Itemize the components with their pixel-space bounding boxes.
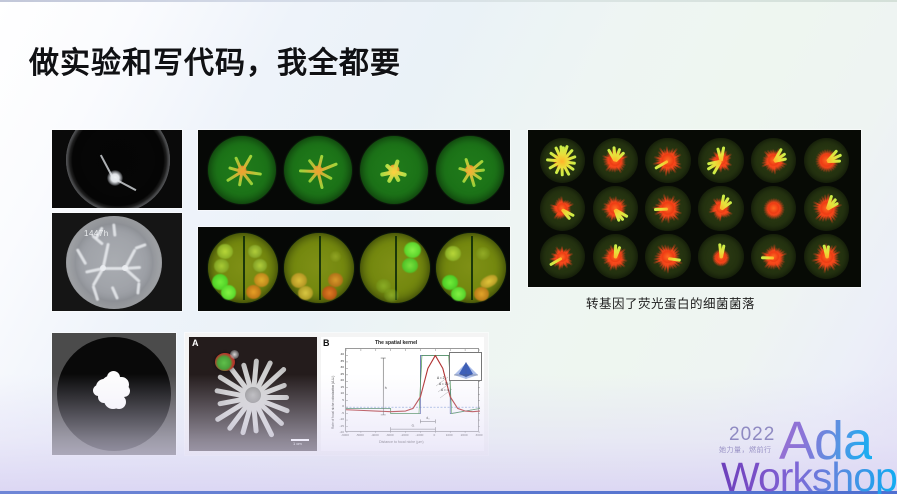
chart-xtick-label: -2000 bbox=[401, 433, 409, 437]
svg-text:h: h bbox=[385, 386, 387, 390]
chart-ytick-label: 5 bbox=[334, 398, 344, 402]
red-radial-colony bbox=[698, 234, 743, 279]
red-petri-dish bbox=[540, 186, 585, 231]
chart-xtick-label: -5000 bbox=[356, 433, 364, 437]
scientific-figure-panel: A 1 cm B The spatial kernel hd₀d₁ Rate o… bbox=[185, 333, 488, 455]
chart-xtick-label: 2000 bbox=[461, 433, 468, 437]
series-annotation-ainf: A = ∞ bbox=[441, 388, 449, 392]
slide-canvas: 做实验和写代码，我全都要 1447h bbox=[0, 0, 897, 494]
chart-ytick-label: -5 bbox=[334, 411, 344, 415]
green-petri-dish-spots bbox=[360, 233, 430, 303]
colony-spot bbox=[253, 259, 267, 272]
series-annotation-a2: A = 2 bbox=[437, 376, 444, 380]
colony-spot bbox=[476, 247, 490, 260]
logo-event: Workshop bbox=[721, 454, 897, 494]
grayscale-petri-dish-dark-panel bbox=[52, 130, 182, 208]
chart-xtick-label: -1000 bbox=[415, 433, 423, 437]
red-petri-dish bbox=[540, 234, 585, 279]
chart-ytick-label: -15 bbox=[334, 424, 344, 428]
red-radial-colony bbox=[751, 234, 796, 279]
colony-spot bbox=[221, 285, 236, 300]
chart-xlabel: Distance to focal niche (μm) bbox=[379, 440, 424, 444]
red-radial-colony bbox=[645, 186, 690, 231]
red-petri-dish bbox=[593, 186, 638, 231]
red-petri-dish bbox=[698, 234, 743, 279]
chart-ytick-label: 0 bbox=[334, 404, 344, 408]
chart-title: The spatial kernel bbox=[375, 340, 417, 346]
chart-xtick-label: 1000 bbox=[446, 433, 453, 437]
chart-xtick-label: -3000 bbox=[386, 433, 394, 437]
colony-spot bbox=[298, 286, 313, 300]
inset-surface-svg bbox=[450, 353, 482, 381]
red-dish-grid bbox=[528, 130, 861, 287]
red-petri-dish bbox=[645, 138, 690, 183]
colony-ray bbox=[241, 154, 253, 172]
red-petri-dish bbox=[698, 186, 743, 231]
red-radial-colony bbox=[698, 186, 743, 231]
red-radial-colony bbox=[645, 138, 690, 183]
radial-colony bbox=[208, 136, 276, 204]
red-radial-colony bbox=[804, 186, 849, 231]
red-radial-colony bbox=[593, 138, 638, 183]
panel-b-chart: B The spatial kernel hd₀d₁ Rate of focal… bbox=[321, 337, 484, 451]
grayscale-petri-dish-branching-panel: 1447h bbox=[52, 213, 182, 311]
colony-spot bbox=[404, 242, 421, 258]
red-radial-colony bbox=[804, 138, 849, 183]
red-petri-dish bbox=[751, 186, 796, 231]
colony-branch bbox=[103, 267, 125, 270]
radial-colony bbox=[360, 136, 428, 204]
scale-bar-label: 1 cm bbox=[293, 441, 302, 446]
radial-colony bbox=[284, 136, 352, 204]
chart-ytick-label: 15 bbox=[334, 385, 344, 389]
colony-spot bbox=[214, 259, 229, 273]
mask-blob bbox=[93, 385, 104, 396]
chart-ytick-label: -10 bbox=[334, 417, 344, 421]
red-petri-dish bbox=[751, 138, 796, 183]
chart-xtick-label: -4000 bbox=[371, 433, 379, 437]
red-radial-colony bbox=[593, 186, 638, 231]
colony-spot bbox=[384, 289, 399, 302]
chart-ytick-label: -20 bbox=[334, 430, 344, 434]
colony-spot bbox=[402, 258, 418, 273]
panel-a-core bbox=[245, 387, 261, 403]
mask-blob bbox=[112, 395, 126, 409]
subfigure-b-label: B bbox=[323, 338, 330, 348]
green-petri-dish bbox=[284, 136, 352, 204]
binary-mask-panel bbox=[52, 333, 176, 455]
green-petri-dish bbox=[436, 136, 504, 204]
green-petri-dish-spots bbox=[284, 233, 354, 303]
colony-spot bbox=[330, 251, 341, 262]
dish-divider bbox=[319, 236, 321, 300]
chart-ytick-label: 10 bbox=[334, 391, 344, 395]
small-colony bbox=[107, 170, 123, 186]
green-petri-dish-spots bbox=[208, 233, 278, 303]
ada-workshop-logo: 2022 她力量，燃前行 Ada Workshop bbox=[713, 418, 893, 492]
colony-spot bbox=[322, 286, 337, 300]
chart-ytick-label: 25 bbox=[334, 372, 344, 376]
logo-year: 2022 bbox=[729, 424, 775, 446]
timestamp-label: 1447h bbox=[84, 229, 109, 238]
chart-ytick-label: 40 bbox=[334, 352, 344, 356]
top-divider bbox=[0, 0, 897, 2]
panel-a-marker-detail bbox=[230, 350, 239, 359]
chart-inset-surface bbox=[449, 352, 482, 381]
colony-spot bbox=[474, 287, 489, 301]
red-radial-colony bbox=[751, 138, 796, 183]
colony-spot bbox=[248, 245, 262, 258]
red-petri-dish bbox=[698, 138, 743, 183]
series-annotation-a10: A = 10 bbox=[439, 382, 448, 386]
red-petri-dish bbox=[540, 138, 585, 183]
chart-ytick-label: 20 bbox=[334, 378, 344, 382]
panel-a-image: A 1 cm bbox=[189, 337, 317, 451]
colony-branch-yellow bbox=[761, 256, 774, 259]
colony-spot bbox=[445, 246, 461, 261]
green-petri-dish bbox=[208, 136, 276, 204]
red-petri-dish bbox=[804, 138, 849, 183]
colony-spot bbox=[217, 244, 233, 259]
colony-spot bbox=[328, 273, 343, 287]
red-radial-colony bbox=[698, 138, 743, 183]
red-radial-colony bbox=[645, 234, 690, 279]
red-fluorescence-grid-panel bbox=[528, 130, 861, 287]
green-fluorescence-row-bottom bbox=[198, 227, 510, 311]
subfigure-a-label: A bbox=[192, 338, 199, 348]
page-title: 做实验和写代码，我全都要 bbox=[29, 38, 401, 82]
red-radial-colony bbox=[540, 234, 585, 279]
red-petri-dish bbox=[645, 186, 690, 231]
chart-xtick-label: 3000 bbox=[476, 433, 483, 437]
green-petri-dish bbox=[360, 136, 428, 204]
red-petri-dish bbox=[804, 234, 849, 279]
chart-xtick-label: 0 bbox=[433, 433, 435, 437]
red-petri-dish bbox=[593, 138, 638, 183]
chart-ytick-label: 35 bbox=[334, 359, 344, 363]
mask-blob bbox=[118, 385, 130, 397]
dish-divider bbox=[471, 236, 473, 300]
red-petri-dish bbox=[804, 186, 849, 231]
red-radial-colony bbox=[540, 186, 585, 231]
red-radial-colony bbox=[540, 138, 585, 183]
svg-text:d₀: d₀ bbox=[426, 416, 430, 420]
petri-dish-dark bbox=[66, 130, 170, 208]
right-grid-caption: 转基因了荧光蛋白的细菌菌落 bbox=[586, 293, 755, 312]
red-radial-colony bbox=[804, 234, 849, 279]
red-petri-dish bbox=[751, 234, 796, 279]
red-radial-colony bbox=[593, 234, 638, 279]
green-petri-dish-spots bbox=[436, 233, 506, 303]
colony-spot bbox=[451, 287, 466, 301]
red-petri-dish bbox=[593, 234, 638, 279]
colony-spot bbox=[246, 285, 261, 299]
red-radial-colony bbox=[751, 186, 796, 231]
green-fluorescence-row-top bbox=[198, 130, 510, 210]
svg-text:d₁: d₁ bbox=[412, 424, 415, 428]
radial-colony bbox=[436, 136, 504, 204]
chart-ytick-label: 30 bbox=[334, 365, 344, 369]
mask-blob bbox=[107, 371, 120, 384]
red-petri-dish bbox=[645, 234, 690, 279]
colony-core bbox=[768, 203, 780, 215]
dish-divider bbox=[243, 236, 245, 300]
